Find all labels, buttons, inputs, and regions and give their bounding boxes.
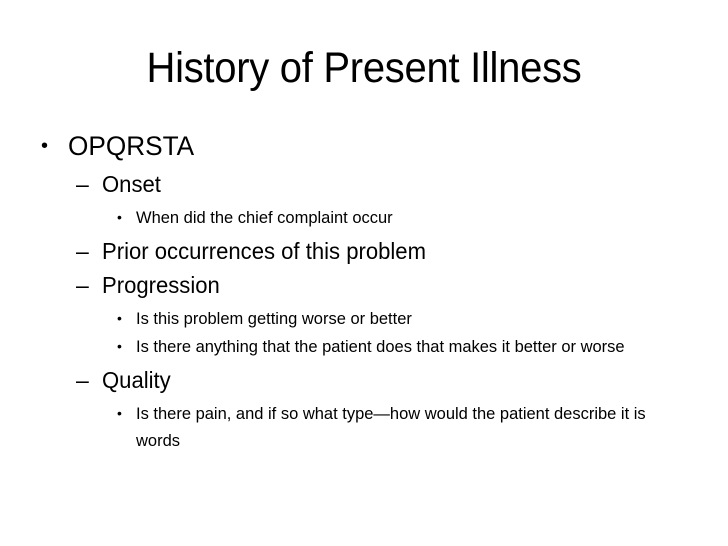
bullet-dot-icon: • xyxy=(117,305,136,332)
slide-body-outline: • OPQRSTA – Onset • When did the chief c… xyxy=(0,128,728,454)
outline-item-text: Is there anything that the patient does … xyxy=(136,333,675,360)
outline-item-level3: • When did the chief complaint occur xyxy=(0,204,728,231)
bullet-dot-icon: • xyxy=(41,128,68,164)
outline-item-level3: • Is there anything that the patient doe… xyxy=(0,333,728,360)
outline-item-text: Is this problem getting worse or better xyxy=(136,305,675,332)
outline-item-text: Is there pain, and if so what type—how w… xyxy=(136,400,675,454)
bullet-dot-icon: • xyxy=(117,333,136,360)
page-title: History of Present Illness xyxy=(25,44,702,92)
outline-item-text: Progression xyxy=(102,269,703,302)
outline-item-level3: • Is there pain, and if so what type—how… xyxy=(0,400,728,454)
outline-item-text: Quality xyxy=(102,364,703,397)
outline-item-level1: • OPQRSTA xyxy=(0,128,728,164)
slide-canvas: History of Present Illness • OPQRSTA – O… xyxy=(0,0,728,546)
bullet-dot-icon: • xyxy=(117,400,136,427)
outline-item-level2: – Progression xyxy=(0,269,728,302)
outline-item-level2: – Prior occurrences of this problem xyxy=(0,235,728,268)
bullet-dash-icon: – xyxy=(76,269,102,302)
outline-item-level2: – Onset xyxy=(0,168,728,201)
outline-item-level2: – Quality xyxy=(0,364,728,397)
outline-item-text: Onset xyxy=(102,168,703,201)
bullet-dash-icon: – xyxy=(76,235,102,268)
bullet-dash-icon: – xyxy=(76,168,102,201)
bullet-dash-icon: – xyxy=(76,364,102,397)
outline-item-level3: • Is this problem getting worse or bette… xyxy=(0,305,728,332)
outline-item-text: OPQRSTA xyxy=(68,128,708,164)
outline-item-text: When did the chief complaint occur xyxy=(136,204,675,231)
bullet-dot-icon: • xyxy=(117,204,136,231)
outline-item-text: Prior occurrences of this problem xyxy=(102,235,703,268)
